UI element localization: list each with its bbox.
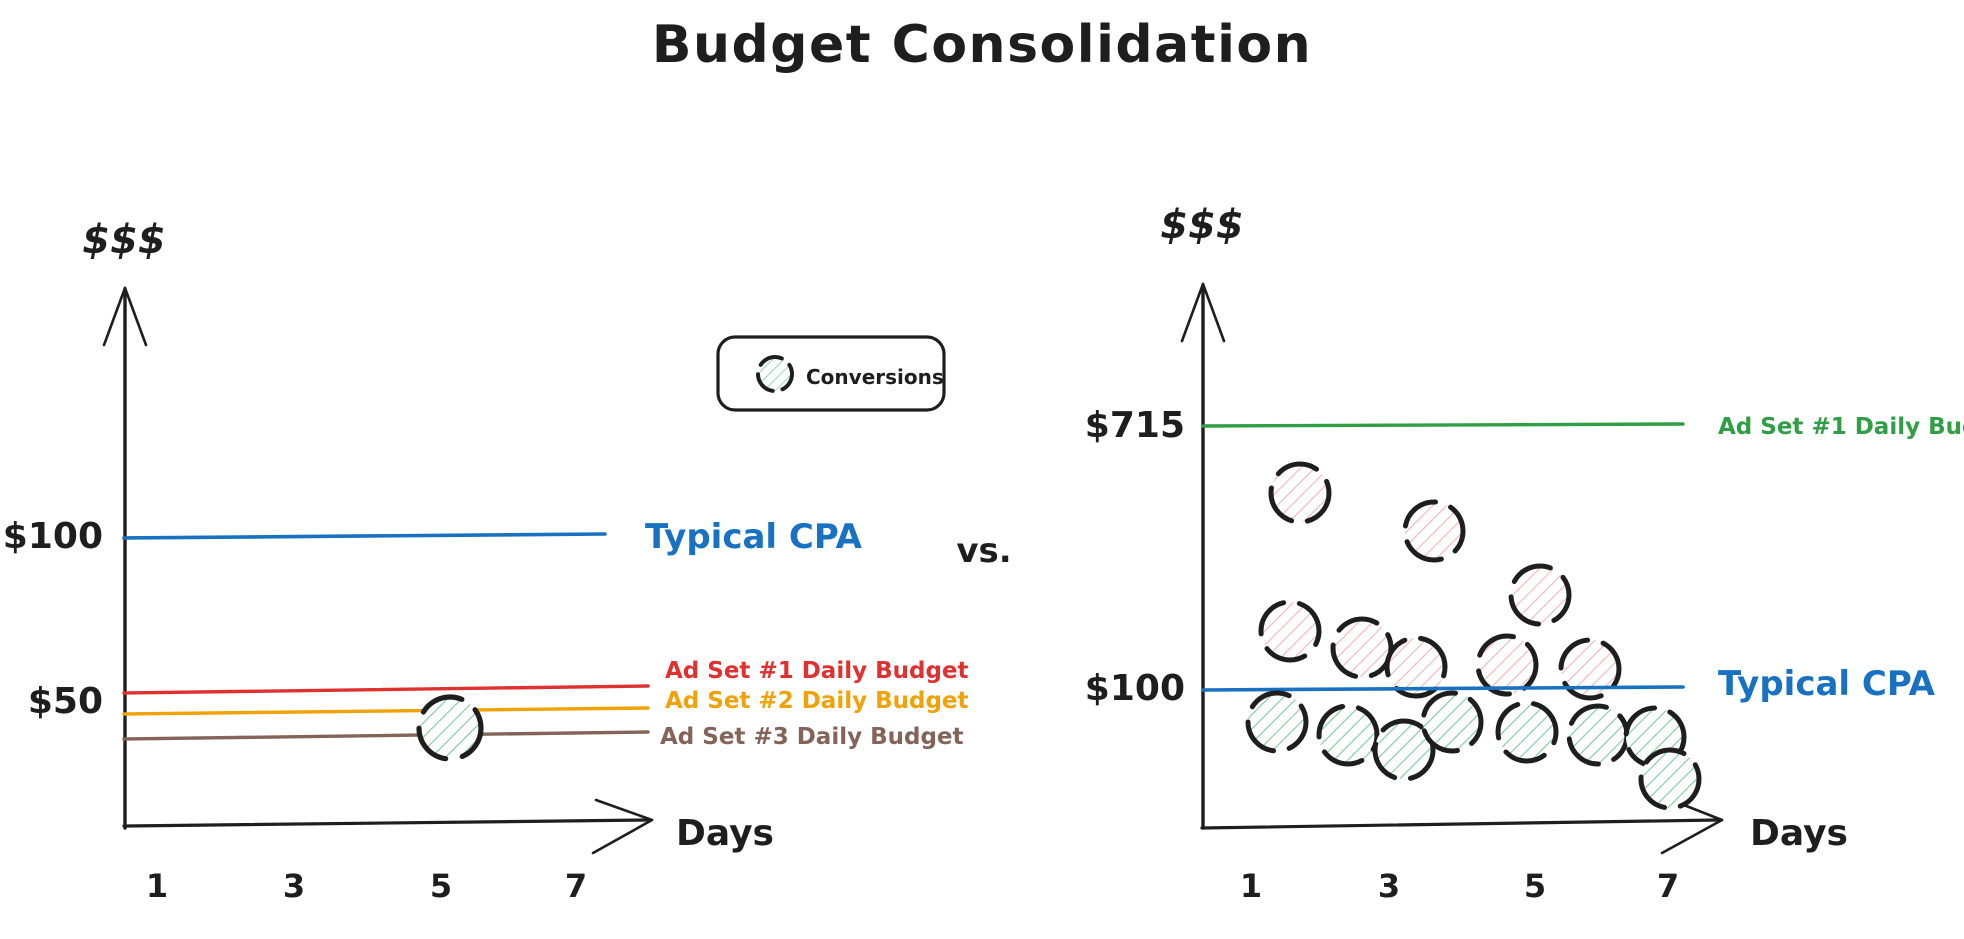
legend-box[interactable]: Conversions: [718, 337, 944, 410]
left-x-tick-7: 7: [565, 867, 587, 905]
right-y-tick-100: $100: [1085, 668, 1185, 709]
comparator-label: vs.: [956, 531, 1011, 571]
right-y-tick-715: $715: [1085, 405, 1185, 446]
conversion-bubble: [1641, 750, 1699, 808]
conversion-bubble: [1569, 706, 1627, 764]
right-x-tick-3: 3: [1378, 867, 1400, 905]
left-series-label-typical-cpa: Typical CPA: [645, 517, 863, 557]
conversion-bubble: [1511, 566, 1569, 624]
right-series-label-ad-set-1: Ad Set #1 Daily Budget: [1718, 414, 1964, 440]
conversion-bubble: [1261, 602, 1319, 660]
diagram-canvas: Budget Consolidation $$$ Days $50 $100 1: [0, 0, 1964, 939]
conversion-bubble: [1405, 502, 1463, 560]
right-series-label-typical-cpa: Typical CPA: [1718, 664, 1936, 704]
left-x-tick-5: 5: [430, 867, 452, 905]
left-y-tick-100: $100: [3, 516, 103, 557]
left-x-tick-1: 1: [146, 867, 168, 905]
left-conversion-bubble: [419, 697, 481, 759]
conversion-bubble: [1319, 706, 1377, 764]
conversion-bubble: [1248, 693, 1306, 751]
left-y-tick-50: $50: [28, 681, 103, 722]
right-x-axis-label: Days: [1750, 813, 1848, 854]
left-series-label-ad-set-1: Ad Set #1 Daily Budget: [665, 658, 969, 684]
conversion-bubble: [1478, 636, 1536, 694]
right-y-axis-label: $$$: [1160, 202, 1244, 248]
legend-hatched-circle-icon: [758, 357, 792, 391]
page-title: Budget Consolidation: [652, 15, 1312, 75]
left-x-tick-3: 3: [283, 867, 305, 905]
right-x-tick-5: 5: [1524, 867, 1546, 905]
left-x-axis-label: Days: [676, 813, 774, 854]
conversion-bubble: [1423, 693, 1481, 751]
legend-item-label-conversions: Conversions: [806, 365, 944, 389]
conversion-bubble: [1333, 619, 1391, 677]
left-series-label-ad-set-3: Ad Set #3 Daily Budget: [660, 724, 964, 750]
conversion-bubble: [1498, 703, 1556, 761]
right-x-tick-7: 7: [1657, 867, 1679, 905]
left-y-axis-label: $$$: [82, 217, 166, 263]
conversion-bubble: [1271, 464, 1329, 522]
budget-consolidation-diagram: Budget Consolidation $$$ Days $50 $100 1: [0, 0, 1964, 939]
left-series-label-ad-set-2: Ad Set #2 Daily Budget: [665, 688, 969, 714]
right-x-tick-1: 1: [1240, 867, 1262, 905]
right-series-line-ad-set-1: [1203, 424, 1683, 426]
